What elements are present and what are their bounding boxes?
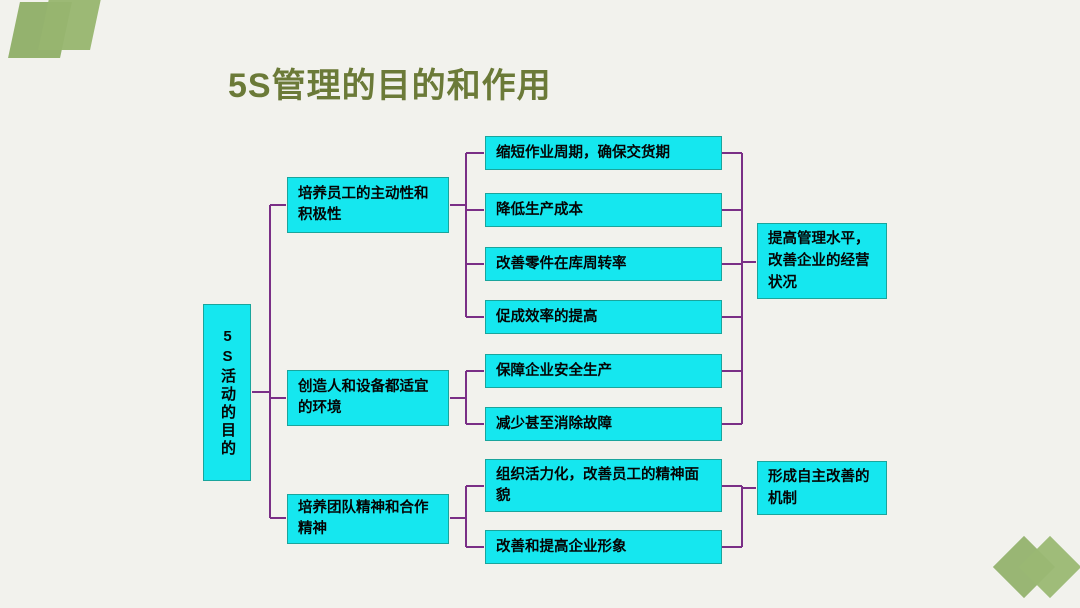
branch-node-1[interactable]: 培养员工的主动性和积极性 — [287, 177, 449, 233]
leaf-node-2-label: 降低生产成本 — [486, 200, 593, 221]
leaf-node-3[interactable]: 改善零件在库周转率 — [485, 247, 722, 281]
leaf-node-3-label: 改善零件在库周转率 — [486, 254, 637, 275]
leaf-node-1-label: 缩短作业周期，确保交货期 — [486, 143, 680, 164]
branch-node-1-label: 培养员工的主动性和积极性 — [288, 184, 448, 226]
outcome-node-2[interactable]: 形成自主改善的机制 — [757, 461, 887, 515]
leaf-node-7[interactable]: 组织活力化，改善员工的精神面貌 — [485, 459, 722, 512]
leaf-node-8[interactable]: 改善和提高企业形象 — [485, 530, 722, 564]
branch-node-2-label: 创造人和设备都适宜的环境 — [288, 377, 448, 419]
leaf-node-1[interactable]: 缩短作业周期，确保交货期 — [485, 136, 722, 170]
leaf-node-8-label: 改善和提高企业形象 — [486, 537, 637, 558]
leaf-node-6-label: 减少甚至消除故障 — [486, 414, 622, 435]
root-node[interactable]: 5S活动的目的 — [203, 304, 251, 481]
leaf-node-5[interactable]: 保障企业安全生产 — [485, 354, 722, 388]
outcome-node-1[interactable]: 提高管理水平，改善企业的经营状况 — [757, 223, 887, 299]
leaf-node-6[interactable]: 减少甚至消除故障 — [485, 407, 722, 441]
branch-node-3[interactable]: 培养团队精神和合作精神 — [287, 494, 449, 544]
leaf-node-5-label: 保障企业安全生产 — [486, 361, 622, 382]
leaf-node-4[interactable]: 促成效率的提高 — [485, 300, 722, 334]
outcome-node-1-label: 提高管理水平，改善企业的经营状况 — [758, 228, 886, 294]
leaf-node-2[interactable]: 降低生产成本 — [485, 193, 722, 227]
leaf-node-4-label: 促成效率的提高 — [486, 307, 608, 328]
outcome-node-2-label: 形成自主改善的机制 — [758, 466, 886, 510]
branch-node-3-label: 培养团队精神和合作精神 — [288, 498, 448, 540]
leaf-node-7-label: 组织活力化，改善员工的精神面貌 — [486, 465, 721, 507]
slide-canvas: 5S管理的目的和作用 — [0, 0, 1080, 608]
root-node-label: 5S活动的目的 — [214, 320, 240, 466]
branch-node-2[interactable]: 创造人和设备都适宜的环境 — [287, 370, 449, 426]
